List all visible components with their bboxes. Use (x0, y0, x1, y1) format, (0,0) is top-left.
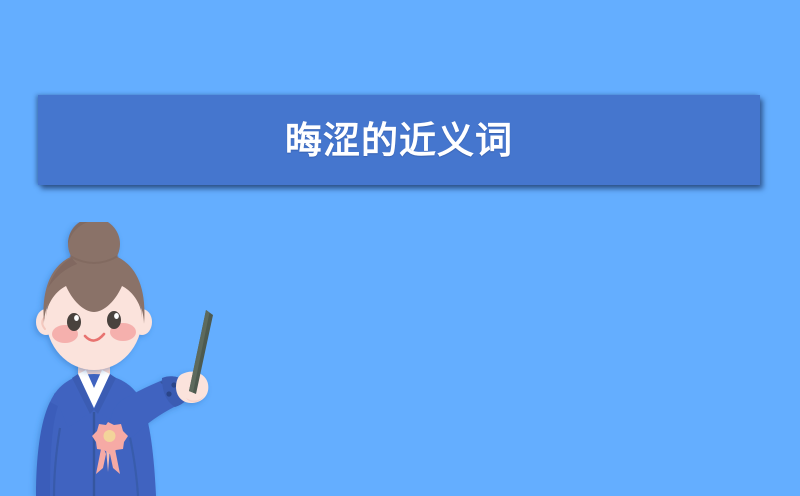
page-title: 晦涩的近义词 (285, 122, 513, 159)
cuff-button-upper (171, 382, 176, 387)
jacket-group (36, 352, 208, 496)
head-group (36, 222, 152, 370)
teacher-illustration (10, 222, 240, 496)
right-eye (107, 311, 121, 329)
cuff-button-lower (166, 391, 171, 396)
slide-canvas: 晦涩的近义词 (0, 0, 800, 496)
left-eye (67, 313, 81, 331)
badge-center (104, 430, 116, 442)
title-banner: 晦涩的近义词 (38, 95, 760, 185)
